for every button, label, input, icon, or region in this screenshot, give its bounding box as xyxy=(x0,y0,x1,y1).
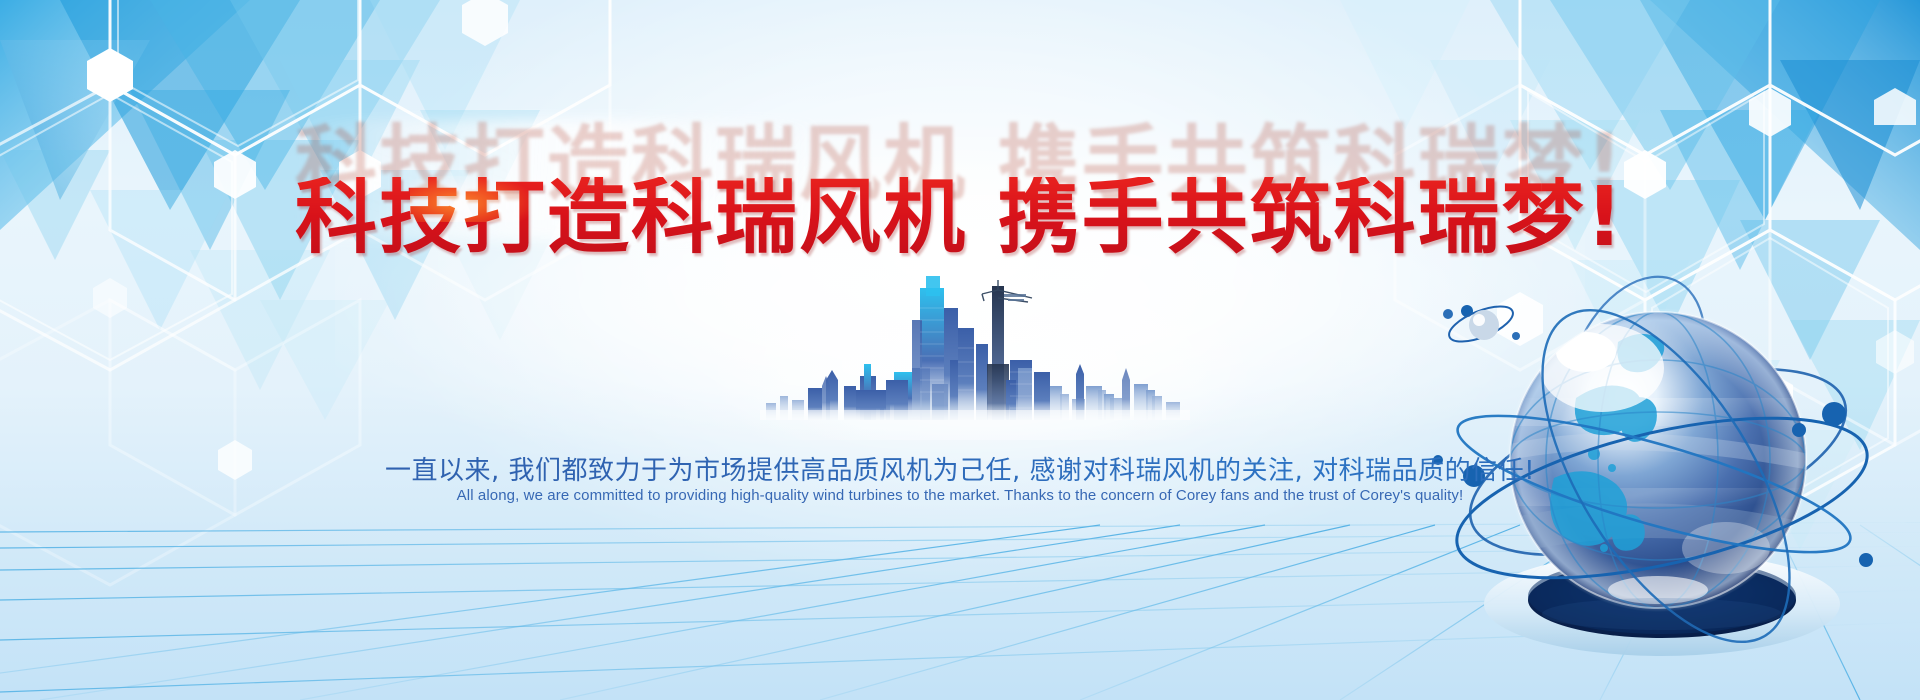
subtitle-english: All along, we are committed to providing… xyxy=(0,487,1920,504)
promo-banner: 科技打造科瑞风机 携手共筑科瑞梦! 科技打造科瑞风机 携手共筑科瑞梦! 一直以来… xyxy=(0,0,1920,700)
banner-content: 科技打造科瑞风机 携手共筑科瑞梦! 科技打造科瑞风机 携手共筑科瑞梦! 一直以来… xyxy=(0,0,1920,700)
page-title: 科技打造科瑞风机 携手共筑科瑞梦! xyxy=(0,177,1920,259)
subtitle-chinese: 一直以来, 我们都致力于为市场提供高品质风机为己任, 感谢对科瑞风机的关注, 对… xyxy=(0,450,1920,487)
